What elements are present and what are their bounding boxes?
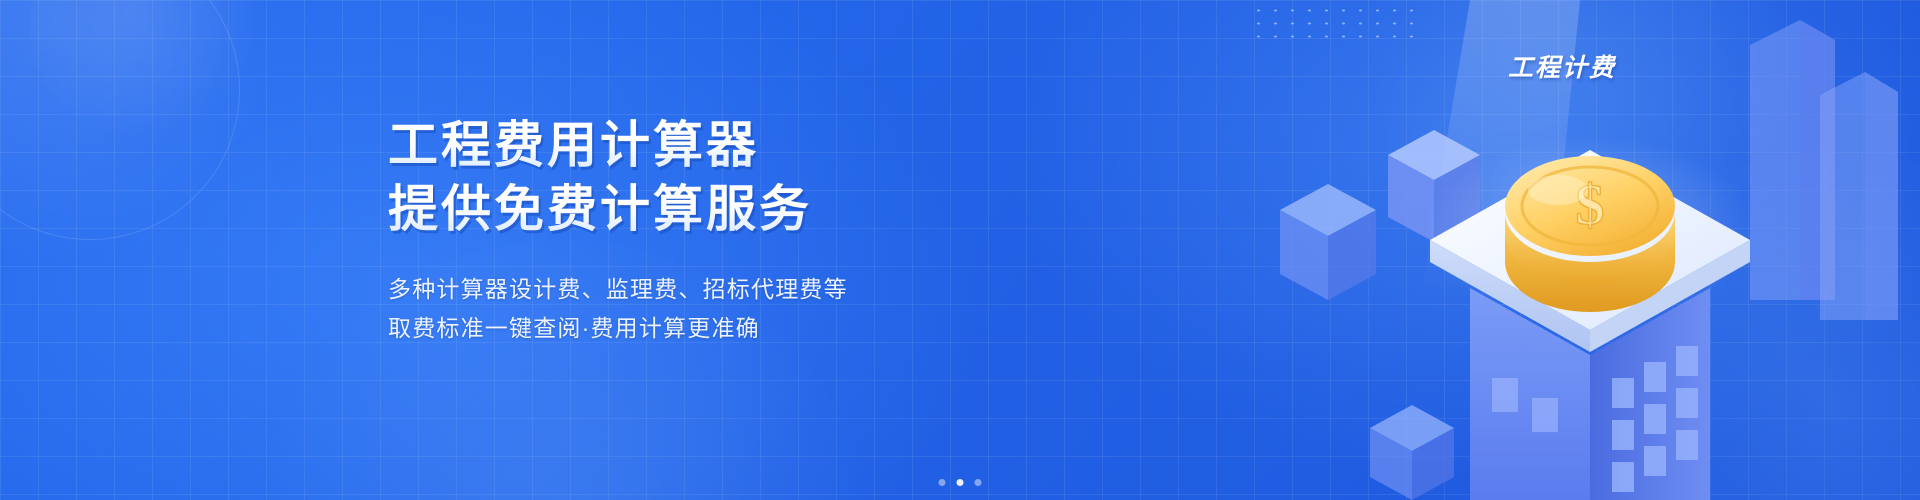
banner-copy: 工程费用计算器 提供免费计算服务 多种计算器设计费、监理费、招标代理费等 取费标… (388, 116, 1008, 348)
carousel-dot-3[interactable] (975, 479, 982, 486)
coin-stack: $ (1505, 156, 1675, 312)
building-windows (1612, 346, 1698, 492)
floating-cube-left (1280, 184, 1376, 300)
floating-cube-bottom (1370, 405, 1454, 500)
carousel-dot-1[interactable] (939, 479, 946, 486)
coin-glow (1425, 135, 1755, 325)
illustration-label: 工程计费 (1508, 48, 1616, 84)
illustration-engineering-fee: $ 工程计费 (1220, 0, 1920, 500)
dot-matrix-decoration (1250, 4, 1420, 42)
floating-cube-mid (1388, 130, 1480, 242)
decorative-blob-top-right (1370, 0, 1800, 260)
carousel-dot-2[interactable] (957, 479, 964, 486)
hero-banner: 工程费用计算器 提供免费计算服务 多种计算器设计费、监理费、招标代理费等 取费标… (0, 0, 1920, 500)
subtitle-line-1: 多种计算器设计费、监理费、招标代理费等 (388, 270, 1008, 309)
isometric-platform (1430, 150, 1750, 352)
decorative-blob-right (1550, 150, 1920, 500)
building-tower (1470, 288, 1710, 500)
headline-line-1: 工程费用计算器 (388, 116, 1008, 174)
background-bars (1750, 20, 1898, 320)
illustration-svg: $ (1220, 0, 1920, 500)
light-beam (1420, 0, 1580, 300)
svg-text:$: $ (1576, 172, 1605, 237)
dollar-sign-icon: $ (1576, 172, 1605, 237)
building-accents (1492, 378, 1558, 432)
subtitle-line-2: 取费标准一键查阅·费用计算更准确 (388, 309, 1008, 348)
decorative-ring (0, 0, 240, 240)
carousel-indicator[interactable] (939, 479, 982, 486)
headline-line-2: 提供免费计算服务 (388, 180, 1008, 238)
